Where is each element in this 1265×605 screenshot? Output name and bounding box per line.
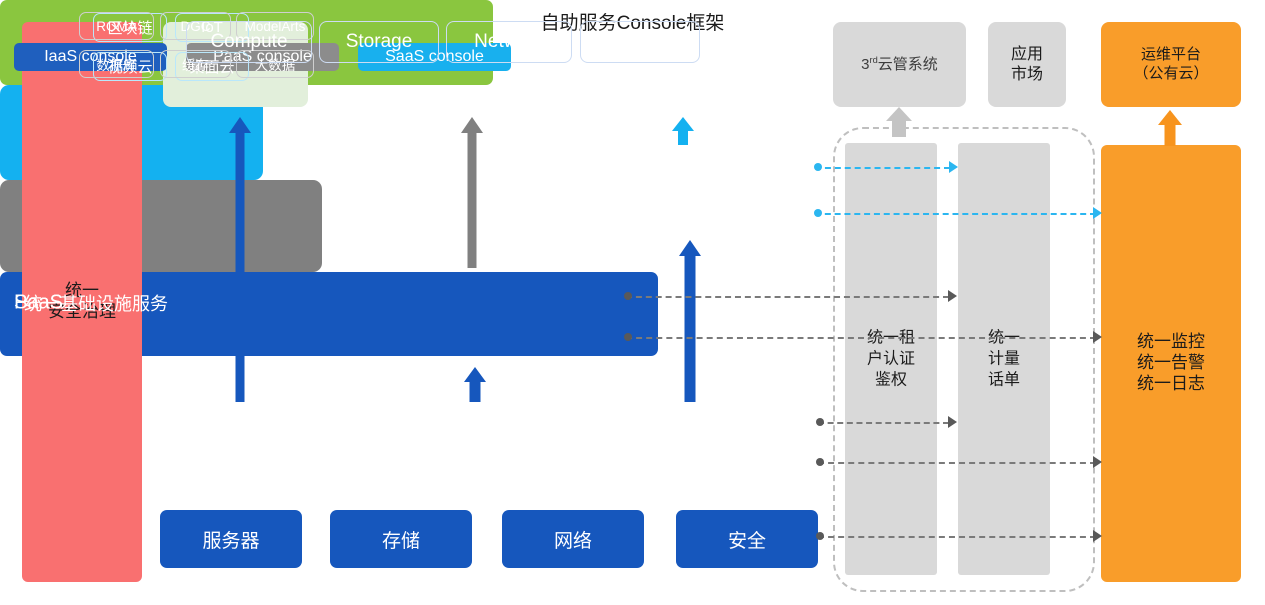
dashed-resources-to-ops-arrowhead	[1093, 530, 1102, 542]
arrow-ops-panel-to-ops-platform	[1159, 110, 1181, 146]
dashed-infra-to-auth-arrowhead	[948, 416, 957, 428]
dashed-saas-to-ops	[815, 213, 1096, 215]
resource-box-network[interactable]: 网络	[502, 510, 644, 568]
unified-infrastructure-label: 统一基础设施服务	[24, 290, 168, 316]
dashed-saas-to-metering-arrowhead	[949, 161, 958, 173]
dashed-paas-to-ops-arrowhead	[1093, 331, 1102, 343]
third-party-cloud-management-box: 3rd云管系统	[833, 22, 966, 107]
dashed-saas-to-ops-dot	[814, 209, 822, 217]
dashed-infra-to-ops	[818, 462, 1096, 464]
infra-chip-cce[interactable]: CCE	[580, 21, 700, 63]
dashed-saas-to-metering	[815, 167, 950, 169]
resource-box-server[interactable]: 服务器	[160, 510, 302, 568]
third-party-cloud-label: 3rd云管系统	[861, 55, 938, 74]
dashed-saas-to-ops-arrowhead	[1093, 207, 1102, 219]
dashed-paas-to-ops-dot	[624, 333, 632, 341]
dashed-paas-to-ops	[626, 337, 1096, 339]
dashed-paas-to-auth-dot	[624, 292, 632, 300]
dashed-paas-to-auth-arrowhead	[948, 290, 957, 302]
dashed-saas-to-metering-dot	[814, 163, 822, 171]
arrow-infra-to-paas	[464, 367, 486, 402]
dashed-infra-to-ops-dot	[816, 458, 824, 466]
dashed-paas-to-auth	[626, 296, 949, 298]
dashed-infra-to-auth-dot	[816, 418, 824, 426]
arrow-auth-to-third-party-cloud	[887, 107, 911, 137]
arrow-paas-to-console	[461, 117, 483, 268]
dashed-infra-to-auth	[818, 422, 949, 424]
resource-box-security[interactable]: 安全	[676, 510, 818, 568]
arrow-infra-to-saas	[679, 240, 701, 402]
ops-platform-label: 运维平台（公有云）	[1133, 46, 1208, 83]
third-party-cloud-superscript: rd	[870, 55, 878, 65]
resource-box-storage[interactable]: 存储	[330, 510, 472, 568]
unified-monitoring-label: 统一监控统一告警统一日志	[1137, 332, 1205, 394]
arrow-saas-to-console	[672, 117, 694, 145]
unified-monitoring-panel: 统一监控统一告警统一日志	[1101, 145, 1241, 582]
dashed-resources-to-ops	[818, 536, 1096, 538]
app-market-label: 应用市场	[1011, 45, 1043, 84]
dashed-infra-to-ops-arrowhead	[1093, 456, 1102, 468]
unified-metering-billing-column: 统一计量话单	[958, 143, 1050, 575]
infra-chip-storage[interactable]: Storage	[319, 21, 439, 63]
paas-chip-database[interactable]: 数据库	[79, 50, 154, 78]
app-market-box: 应用市场	[988, 22, 1066, 107]
infra-chip-compute[interactable]: Compute	[186, 21, 312, 63]
dashed-resources-to-ops-dot	[816, 532, 824, 540]
unified-tenant-auth-column: 统一租户认证鉴权	[845, 143, 937, 575]
arrow-infra-to-api-gateway	[229, 117, 251, 402]
paas-chip-roma[interactable]: ROMA	[79, 12, 154, 40]
infra-chip-network[interactable]: Network	[446, 21, 572, 63]
ops-platform-public-cloud-box: 运维平台（公有云）	[1101, 22, 1241, 107]
